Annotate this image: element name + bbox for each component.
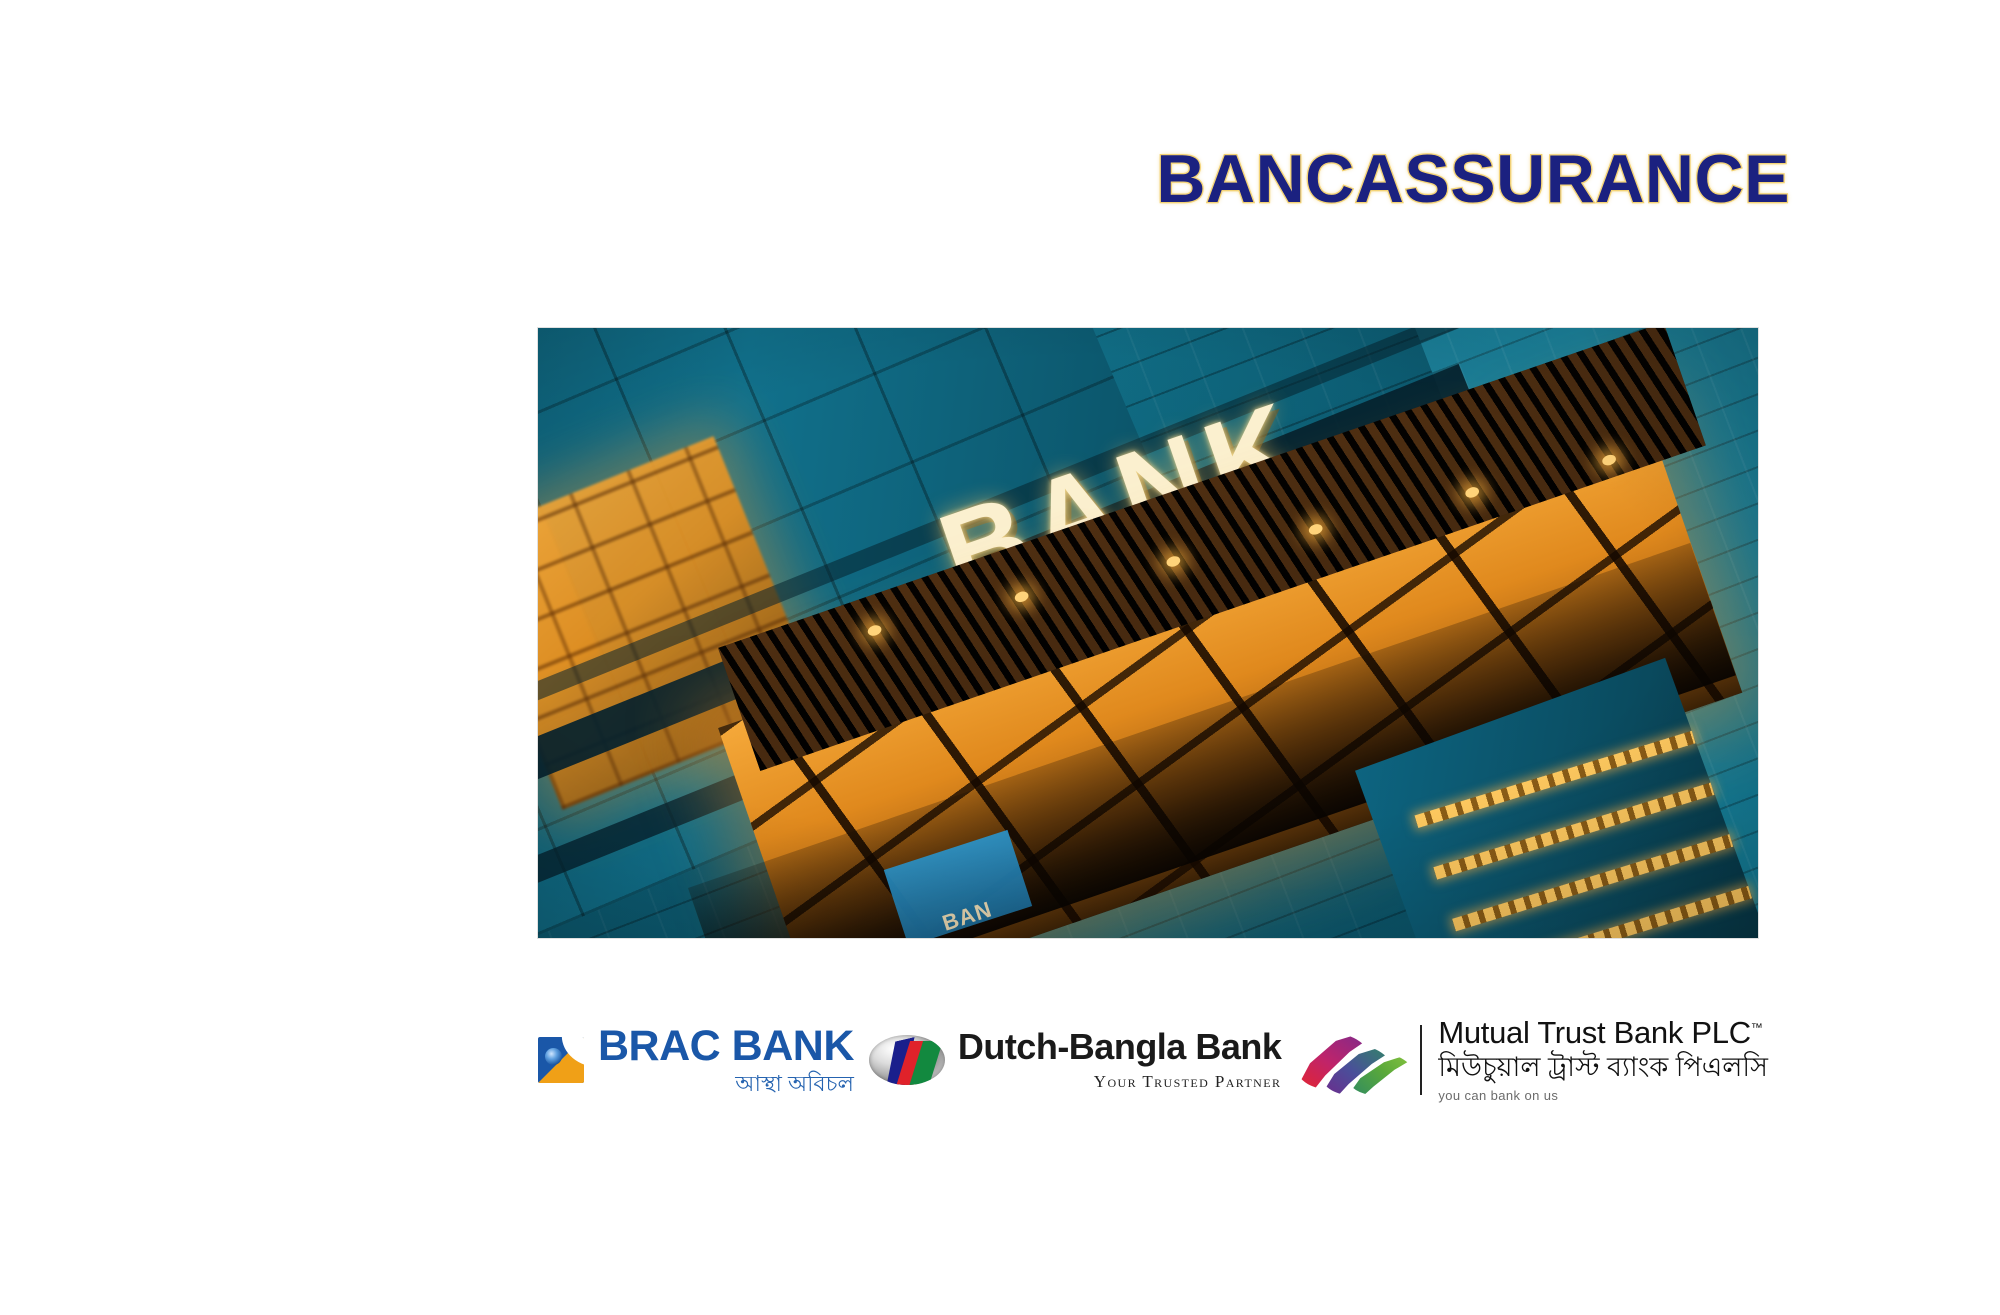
- mtb-divider: [1420, 1025, 1422, 1095]
- brac-bank-tagline-bn: আস্থা অবিচল: [735, 1073, 854, 1095]
- dutch-bangla-tagline: Your Trusted Partner: [958, 1072, 1282, 1092]
- brac-bank-text-block: BRAC BANK আস্থা অবিচল: [598, 1025, 854, 1095]
- brac-bank-name: BRAC BANK: [598, 1025, 854, 1068]
- logo-brac-bank: BRAC BANK আস্থা অবিচল: [538, 1025, 854, 1095]
- slide-title-container: BANCASSURANCE: [0, 140, 1790, 218]
- mutual-trust-bank-name: Mutual Trust Bank PLC™: [1438, 1017, 1768, 1050]
- mutual-trust-tagline: you can bank on us: [1438, 1088, 1768, 1103]
- dutch-bangla-oval-icon: [869, 1035, 945, 1085]
- partner-logo-row: BRAC BANK আস্থা অবিচল Dutch-Bangla Bank …: [538, 1000, 1768, 1120]
- hero-bank-building-image: BANK BAN: [538, 328, 1758, 938]
- dutch-bangla-text-block: Dutch-Bangla Bank Your Trusted Partner: [958, 1029, 1282, 1092]
- page-title: BANCASSURANCE: [1156, 140, 1790, 218]
- image-vignette: [538, 328, 1758, 938]
- logo-mutual-trust-bank: Mutual Trust Bank PLC™ মিউচুয়াল ট্রাস্ট…: [1296, 1017, 1768, 1103]
- mtb-trademark: ™: [1751, 1021, 1763, 1035]
- mutual-trust-swoosh-icon: [1296, 1027, 1404, 1093]
- brac-mark-sphere: [545, 1048, 562, 1065]
- mutual-trust-bank-name-bn: মিউচুয়াল ট্রাস্ট ব্যাংক পিএলসি: [1438, 1052, 1768, 1083]
- logo-dutch-bangla-bank: Dutch-Bangla Bank Your Trusted Partner: [869, 1029, 1282, 1092]
- dutch-bangla-bank-name: Dutch-Bangla Bank: [958, 1029, 1282, 1065]
- presentation-slide: BANCASSURANCE BANK BAN: [0, 0, 2000, 1315]
- brac-bank-mark-icon: [538, 1037, 584, 1083]
- mutual-trust-text-block: Mutual Trust Bank PLC™ মিউচুয়াল ট্রাস্ট…: [1438, 1017, 1768, 1103]
- mutual-trust-bank-name-text: Mutual Trust Bank PLC: [1438, 1015, 1750, 1050]
